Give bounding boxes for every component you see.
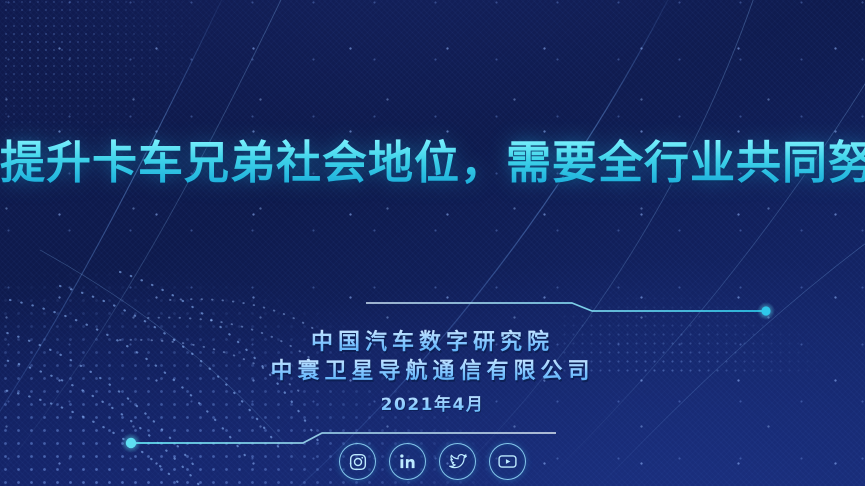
- presentation-title-slide: 提升卡车兄弟社会地位，需要全行业共同努力！ 中国汽车数字研究院 中寰卫星导航通信…: [0, 0, 865, 486]
- organization-line-1: 中国汽车数字研究院: [0, 328, 865, 357]
- organization-line-2: 中寰卫星导航通信有限公司: [0, 357, 865, 386]
- twitter-icon[interactable]: [439, 443, 476, 480]
- slide-title: 提升卡车兄弟社会地位，需要全行业共同努力！: [0, 138, 865, 188]
- upper-connector-line: [366, 302, 775, 320]
- linkedin-icon[interactable]: [389, 443, 426, 480]
- instagram-icon[interactable]: [339, 443, 376, 480]
- title-container: 提升卡车兄弟社会地位，需要全行业共同努力！: [0, 138, 865, 188]
- presentation-date: 2021年4月: [0, 390, 865, 415]
- social-icon-row: [0, 443, 865, 480]
- youtube-icon[interactable]: [489, 443, 526, 480]
- organization-block: 中国汽车数字研究院 中寰卫星导航通信有限公司 2021年4月: [0, 328, 865, 415]
